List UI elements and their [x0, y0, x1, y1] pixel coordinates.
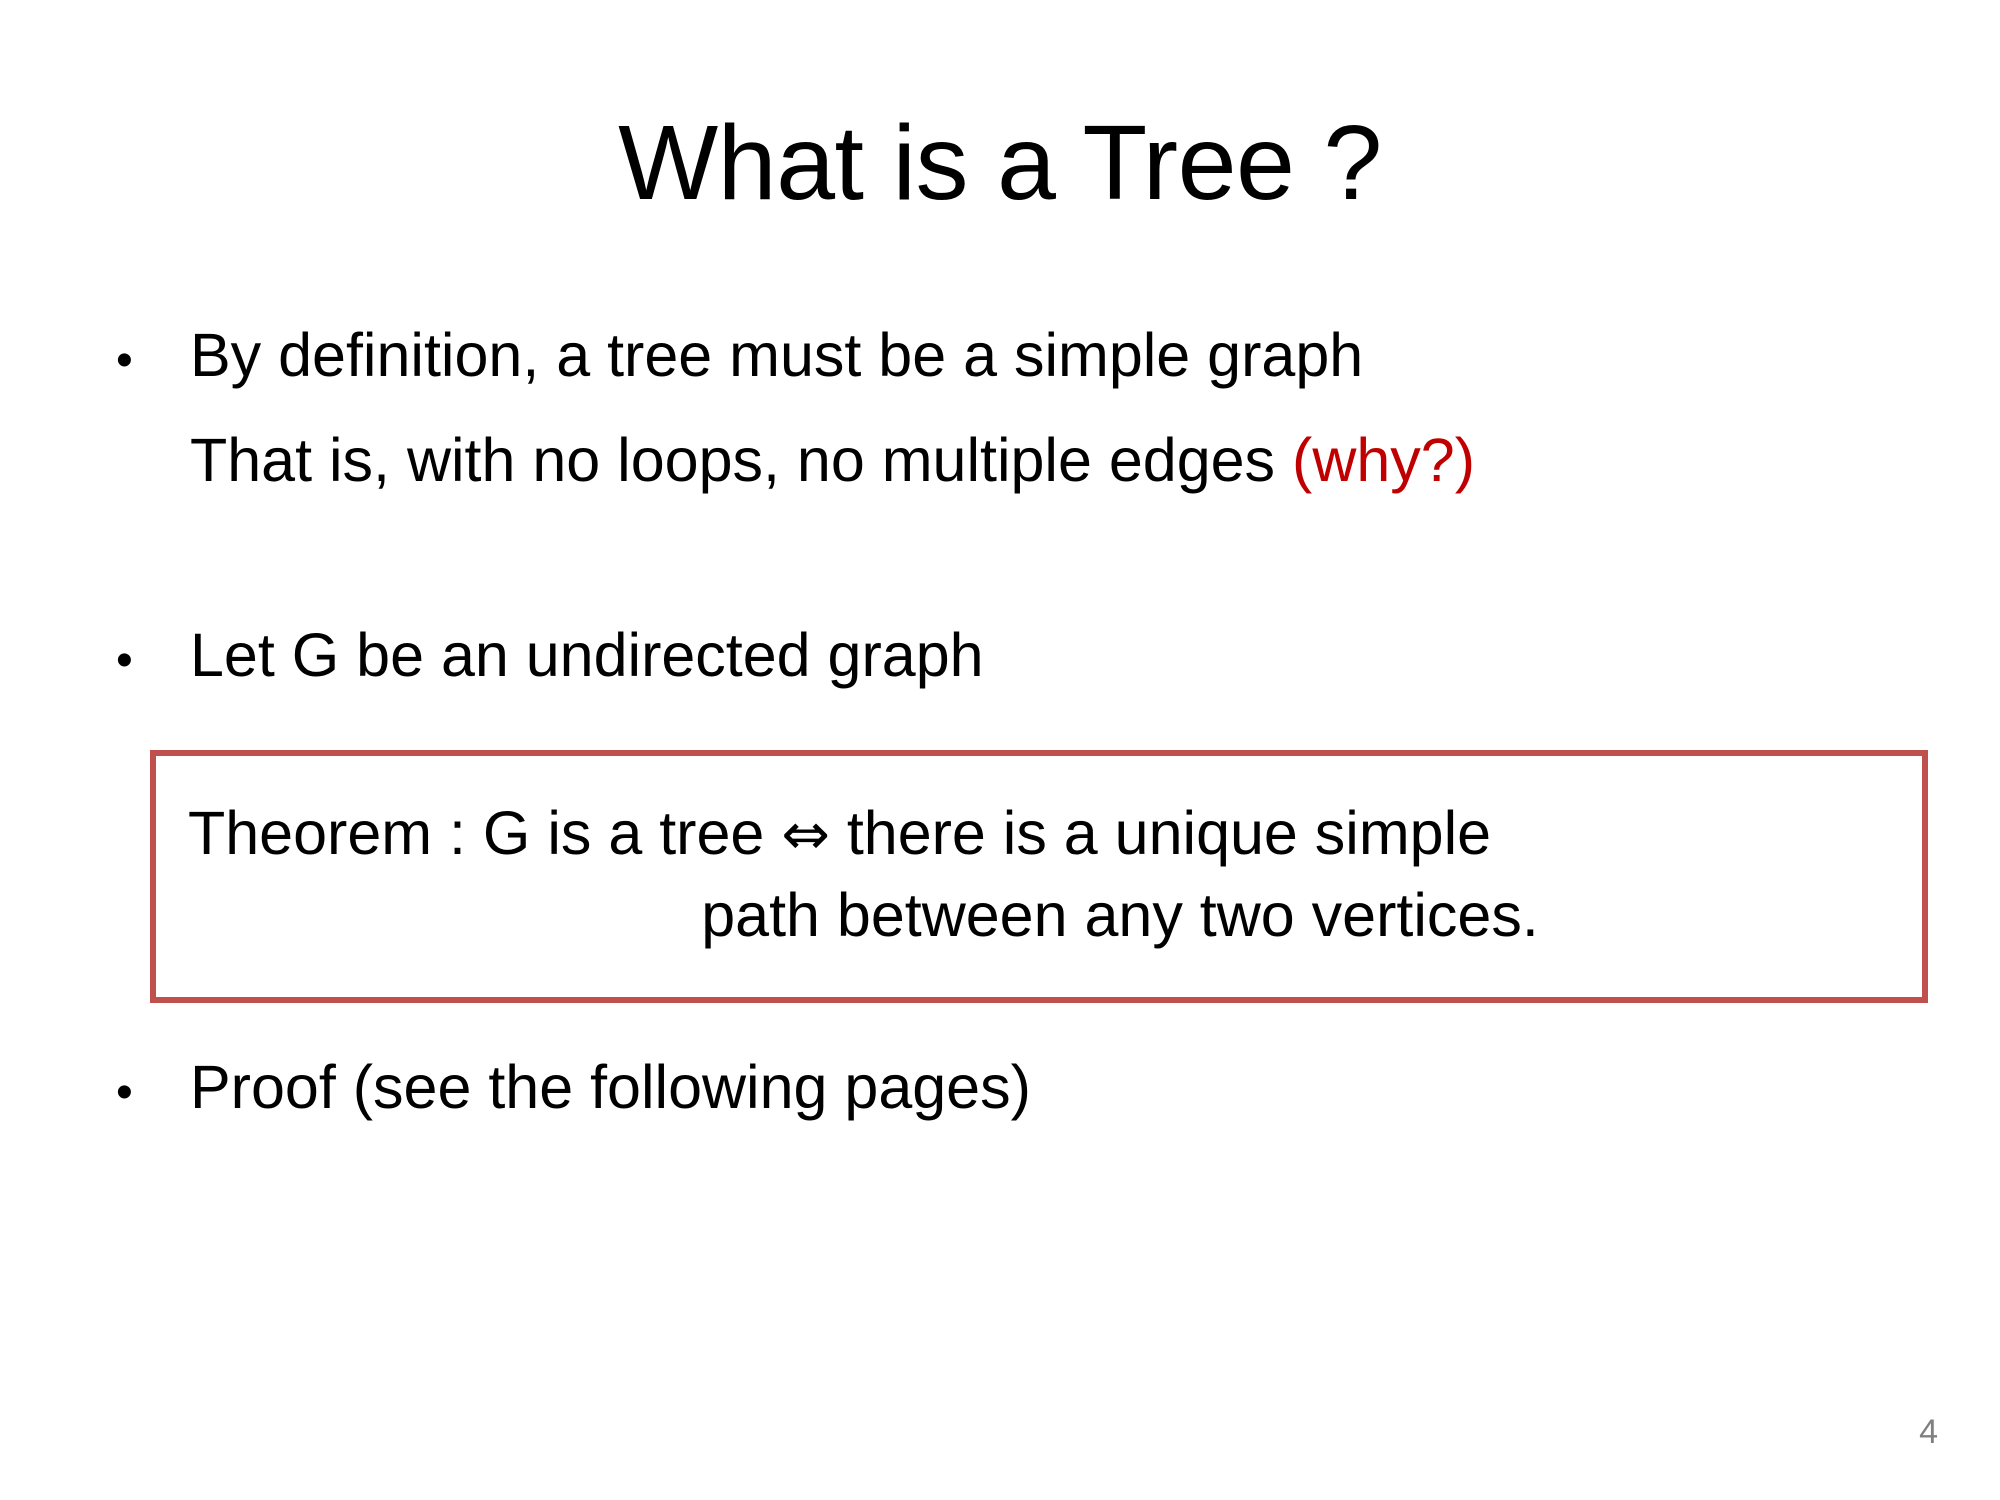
continuation-line: That is, with no loops, no multiple edge…	[190, 425, 1475, 497]
bullet-label-proof: Proof (see the following pages)	[190, 1052, 1031, 1124]
bullet-point-icon: •	[116, 1069, 190, 1117]
slide-body: • By definition, a tree must be a simple…	[0, 0, 2000, 1500]
theorem-suffix: there is a unique simple	[830, 799, 1491, 867]
bullet-point-icon: •	[116, 337, 190, 385]
slide-page-number: 4	[1919, 1413, 1938, 1452]
bullet-item-proof: • Proof (see the following pages)	[116, 1052, 1031, 1124]
theorem-statement-line-1: Theorem : G is a tree ⇔ there is a uniqu…	[188, 798, 1491, 868]
bullet-label-let-g: Let G be an undirected graph	[190, 620, 984, 692]
continuation-text: That is, with no loops, no multiple edge…	[190, 426, 1292, 494]
theorem-callout-box: Theorem : G is a tree ⇔ there is a uniqu…	[150, 750, 1928, 1003]
theorem-prefix: Theorem : G is a tree	[188, 799, 781, 867]
bullet-point-icon: •	[116, 637, 190, 685]
theorem-statement-line-2: path between any two vertices.	[156, 880, 1934, 950]
left-right-double-arrow-icon: ⇔	[781, 800, 830, 868]
bullet-item-let-g: • Let G be an undirected graph	[116, 620, 984, 692]
bullet-item-definition: • By definition, a tree must be a simple…	[116, 320, 1363, 392]
bullet-label-definition: By definition, a tree must be a simple g…	[190, 320, 1363, 392]
slide-canvas: What is a Tree ? • By definition, a tree…	[0, 0, 2000, 1500]
why-note: (why?)	[1292, 426, 1475, 494]
